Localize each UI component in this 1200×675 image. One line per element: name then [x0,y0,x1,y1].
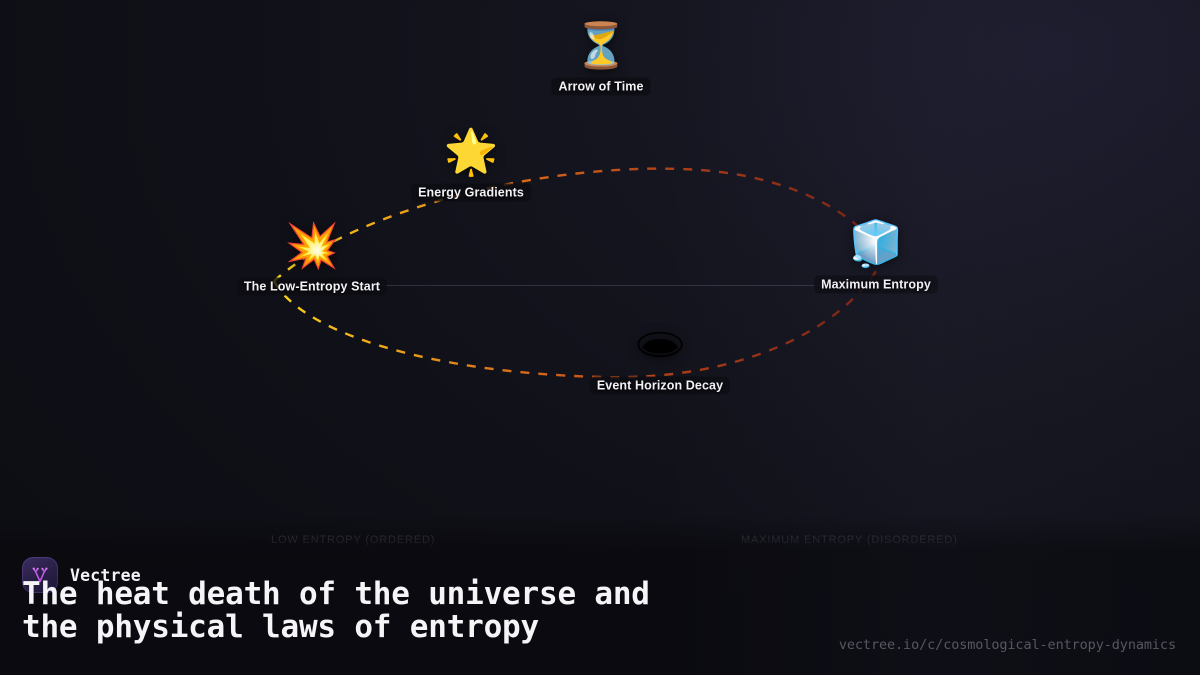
graph-canvas[interactable]: ⏳ Arrow of Time 🌟 Energy Gradients 💥 The… [0,0,1200,520]
graph-node-label: The Low-Entropy Start [237,278,387,296]
graph-node-energy-gradients[interactable]: 🌟 Energy Gradients [411,131,531,202]
headline-line-1: The heat death of the universe and [22,576,650,612]
graph-node-label: Energy Gradients [411,184,531,202]
graph-node-maximum-entropy[interactable]: 🧊 Maximum Entropy [814,223,938,294]
star-icon: 🌟 [444,131,499,175]
headline-line-2: the physical laws of entropy [22,611,812,644]
explosion-icon: 💥 [285,225,340,269]
source-url[interactable]: vectree.io/c/cosmological-entropy-dynami… [839,637,1176,653]
ice-cube-icon: 🧊 [849,223,904,267]
graph-node-label: Arrow of Time [551,78,650,96]
graph-node-event-horizon-decay[interactable]: 🕳 Event Horizon Decay [590,324,730,395]
graph-node-arrow-of-time[interactable]: ⏳ Arrow of Time [551,25,650,96]
headline: The heat death of the universe and the p… [22,578,812,643]
hourglass-icon: ⏳ [574,25,629,69]
slide-canvas: ⏳ Arrow of Time 🌟 Energy Gradients 💥 The… [0,0,1200,675]
black-hole-icon: 🕳 [632,324,688,368]
footer-bar: Vectree The heat death of the universe a… [0,515,1200,675]
graph-node-low-entropy-start[interactable]: 💥 The Low-Entropy Start [237,225,387,296]
graph-node-label: Event Horizon Decay [590,377,730,395]
graph-node-label: Maximum Entropy [814,276,938,294]
